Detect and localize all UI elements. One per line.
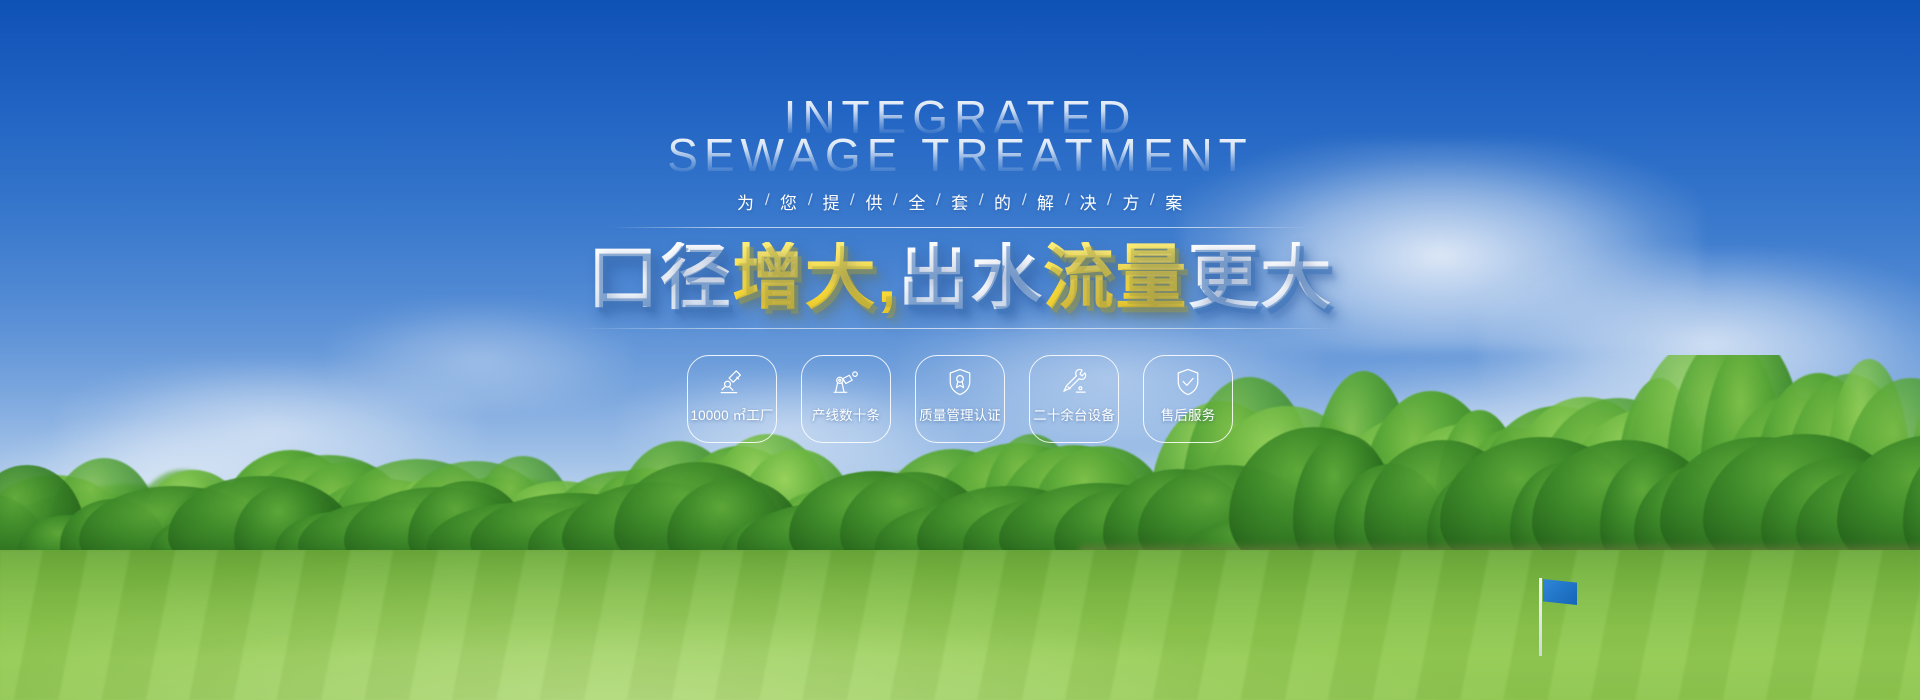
microscope-icon [717, 367, 747, 397]
subtitle-char: 的 [984, 189, 1022, 214]
headline-segment: 增大 [732, 242, 877, 317]
subtitle-separator: / [764, 192, 770, 210]
headline-segment: 出水 [898, 242, 1043, 317]
feature-badge-label: 质量管理认证 [919, 404, 1001, 424]
subtitle-char: 决 [1070, 189, 1108, 214]
feature-badge[interactable]: 质量管理认证 [915, 355, 1005, 443]
subtitle-block: 为/您/提/供/全/套/的/解/决/方/案 [610, 189, 1310, 228]
subtitle-separator: / [893, 192, 899, 210]
headline-segment: 更大 [1188, 242, 1333, 317]
english-headline-block: INTEGRATED SEWAGE TREATMENT [667, 96, 1253, 177]
feature-badge[interactable]: 售后服务 [1143, 355, 1233, 443]
feature-badge-label: 二十余台设备 [1033, 404, 1115, 424]
shield-award-icon [945, 367, 975, 397]
subtitle-char: 案 [1155, 189, 1193, 214]
headline-segment: , [877, 242, 898, 317]
shield-check-icon [1173, 367, 1203, 397]
feature-badge[interactable]: 10000 ㎡工厂 [687, 355, 777, 443]
divider-top [610, 227, 1310, 228]
subtitle-char: 套 [941, 189, 979, 214]
subtitle-separator: / [1021, 192, 1027, 210]
subtitle-separator: / [1107, 192, 1113, 210]
main-headline: 口径增大,出水流量更大 [587, 242, 1332, 317]
subtitle-char: 为 [727, 189, 765, 214]
subtitle-char: 方 [1112, 189, 1150, 214]
subtitle-separator: / [936, 192, 942, 210]
headline-segment: 流量 [1043, 242, 1188, 317]
subtitle-separator: / [1150, 192, 1156, 210]
subtitle-char: 供 [856, 189, 894, 214]
feature-badge[interactable]: 二十余台设备 [1029, 355, 1119, 443]
subtitle-char: 解 [1027, 189, 1065, 214]
subtitle-separator: / [807, 192, 813, 210]
feature-badge-label: 产线数十条 [812, 404, 880, 424]
hero-banner: INTEGRATED SEWAGE TREATMENT 为/您/提/供/全/套/… [0, 0, 1920, 700]
feature-badge-label: 售后服务 [1161, 404, 1216, 424]
feature-badge[interactable]: 产线数十条 [801, 355, 891, 443]
robot-arm-icon [831, 367, 861, 397]
english-line-2: SEWAGE TREATMENT [667, 134, 1253, 176]
subtitle-separator: / [1064, 192, 1070, 210]
feature-badge-label: 10000 ㎡工厂 [690, 404, 773, 424]
subtitle-slashed-text: 为/您/提/供/全/套/的/解/决/方/案 [727, 189, 1193, 214]
headline-segment: 口径 [587, 242, 732, 317]
subtitle-char: 全 [898, 189, 936, 214]
banner-content: INTEGRATED SEWAGE TREATMENT 为/您/提/供/全/套/… [0, 0, 1920, 700]
wrench-tool-icon [1059, 367, 1089, 397]
subtitle-char: 提 [813, 189, 851, 214]
divider-bottom [580, 328, 1340, 329]
feature-badge-list: 10000 ㎡工厂产线数十条质量管理认证二十余台设备售后服务 [687, 355, 1233, 443]
subtitle-separator: / [979, 192, 985, 210]
subtitle-char: 您 [770, 189, 808, 214]
